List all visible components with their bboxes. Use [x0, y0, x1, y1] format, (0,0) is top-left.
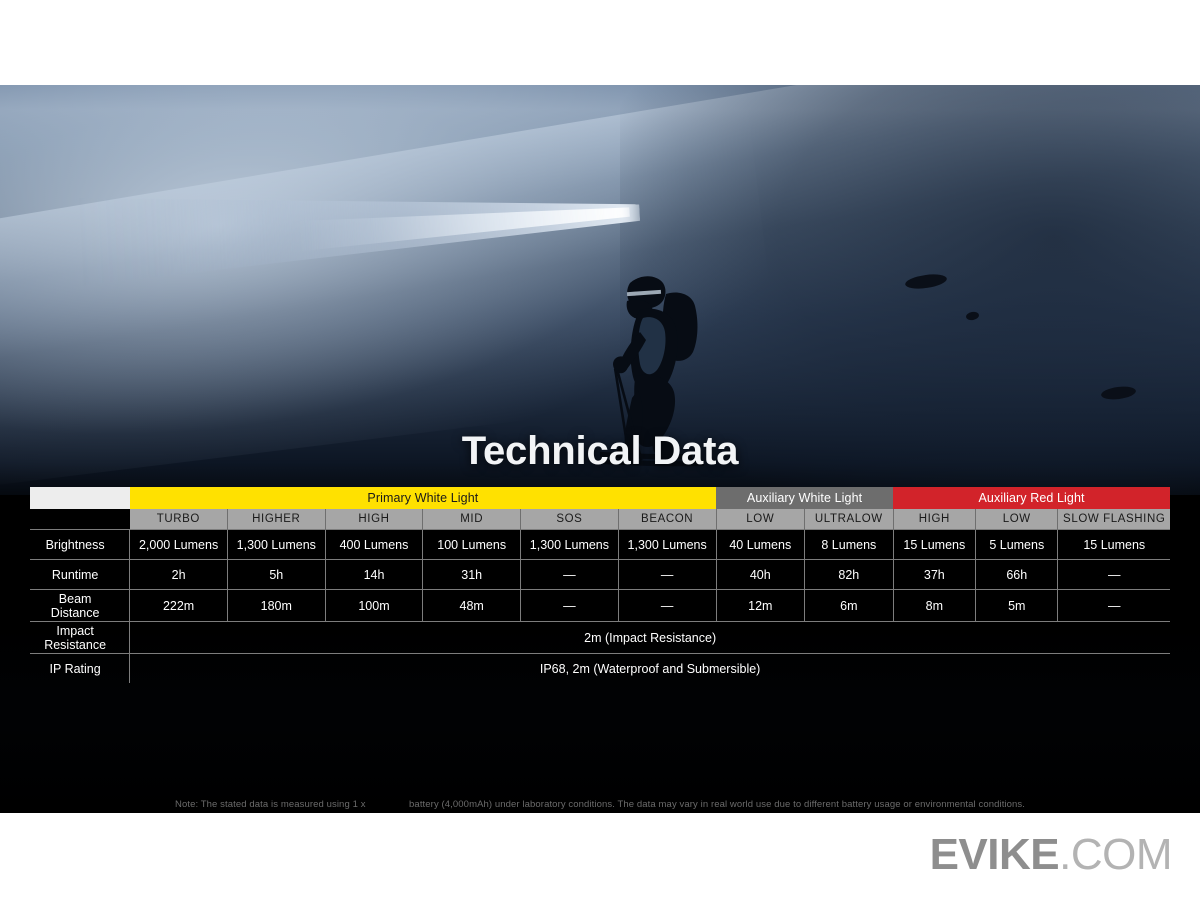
brightness-turbo: 2,000 Lumens: [130, 530, 228, 560]
beam-distance-aux-low: 12m: [716, 590, 805, 622]
row-label-brightness: Brightness: [30, 530, 130, 560]
row-label-ip-rating: IP Rating: [30, 654, 130, 684]
row-label-beam-distance-line2: Distance: [51, 606, 100, 620]
beam-distance-sos: —: [521, 590, 619, 622]
technical-data-table: Primary White Light Auxiliary White Ligh…: [30, 487, 1170, 683]
beam-distance-ultralow: 6m: [805, 590, 894, 622]
brightness-red-low: 5 Lumens: [976, 530, 1058, 560]
row-label-beam-distance: Beam Distance: [30, 590, 130, 622]
brightness-slow-flashing: 15 Lumens: [1058, 530, 1170, 560]
runtime-red-low: 66h: [976, 560, 1058, 590]
runtime-ultralow: 82h: [805, 560, 894, 590]
group-header-primary-white-light: Primary White Light: [130, 487, 716, 509]
group-header-blank: [30, 487, 130, 509]
beam-distance-slow-flashing: —: [1058, 590, 1170, 622]
table-row: IP Rating IP68, 2m (Waterproof and Subme…: [30, 654, 1170, 684]
runtime-high: 14h: [325, 560, 423, 590]
evike-logo-tld: .COM: [1059, 830, 1172, 879]
beam-distance-beacon: —: [618, 590, 716, 622]
row-label-impact-resistance-line2: Resistance: [44, 638, 106, 652]
mode-header-ultralow: ULTRALOW: [805, 509, 894, 530]
mode-header-blank: [30, 509, 130, 530]
evike-logo[interactable]: EVIKE.COM: [930, 831, 1172, 879]
runtime-sos: —: [521, 560, 619, 590]
brightness-ultralow: 8 Lumens: [805, 530, 894, 560]
mode-header-sos: SOS: [521, 509, 619, 530]
runtime-red-high: 37h: [893, 560, 975, 590]
runtime-beacon: —: [618, 560, 716, 590]
technical-data-table-wrapper: Primary White Light Auxiliary White Ligh…: [30, 487, 1170, 683]
row-label-beam-distance-line1: Beam: [59, 592, 92, 606]
runtime-mid: 31h: [423, 560, 521, 590]
group-header-auxiliary-red-light: Auxiliary Red Light: [893, 487, 1170, 509]
brightness-higher: 1,300 Lumens: [227, 530, 325, 560]
beam-distance-red-low: 5m: [976, 590, 1058, 622]
mode-header-slow-flashing: SLOW FLASHING: [1058, 509, 1170, 530]
footer-bar: EVIKE.COM: [0, 813, 1200, 900]
table-mode-header-row: TURBO HIGHER HIGH MID SOS BEACON LOW ULT…: [30, 509, 1170, 530]
row-label-impact-resistance-line1: Impact: [56, 624, 94, 638]
brightness-beacon: 1,300 Lumens: [618, 530, 716, 560]
brightness-high: 400 Lumens: [325, 530, 423, 560]
brightness-mid: 100 Lumens: [423, 530, 521, 560]
footnote-line-1-part-a: Note: The stated data is measured using …: [175, 799, 366, 810]
table-footnote: Note: The stated data is measured using …: [0, 797, 1200, 813]
row-label-runtime: Runtime: [30, 560, 130, 590]
mode-header-turbo: TURBO: [130, 509, 228, 530]
brightness-sos: 1,300 Lumens: [521, 530, 619, 560]
hero-banner: Technical Data Primary White Light Auxil…: [0, 85, 1200, 813]
runtime-turbo: 2h: [130, 560, 228, 590]
runtime-slow-flashing: —: [1058, 560, 1170, 590]
group-header-auxiliary-white-light: Auxiliary White Light: [716, 487, 893, 509]
beam-distance-high: 100m: [325, 590, 423, 622]
mode-header-red-low: LOW: [976, 509, 1058, 530]
mode-header-mid: MID: [423, 509, 521, 530]
runtime-higher: 5h: [227, 560, 325, 590]
table-row: Brightness 2,000 Lumens 1,300 Lumens 400…: [30, 530, 1170, 560]
table-row: Beam Distance 222m 180m 100m 48m — — 12m…: [30, 590, 1170, 622]
beam-distance-higher: 180m: [227, 590, 325, 622]
footnote-line-1-part-b: battery (4,000mAh) under laboratory cond…: [409, 799, 1025, 810]
beam-distance-mid: 48m: [423, 590, 521, 622]
mode-header-aux-low: LOW: [716, 509, 805, 530]
mode-header-beacon: BEACON: [618, 509, 716, 530]
brightness-aux-low: 40 Lumens: [716, 530, 805, 560]
table-group-header-row: Primary White Light Auxiliary White Ligh…: [30, 487, 1170, 509]
table-row: Runtime 2h 5h 14h 31h — — 40h 82h 37h 66…: [30, 560, 1170, 590]
brightness-red-high: 15 Lumens: [893, 530, 975, 560]
beam-distance-turbo: 222m: [130, 590, 228, 622]
mode-header-higher: HIGHER: [227, 509, 325, 530]
page-title: Technical Data: [0, 429, 1200, 474]
ip-rating-value: IP68, 2m (Waterproof and Submersible): [130, 654, 1170, 684]
impact-resistance-value: 2m (Impact Resistance): [130, 622, 1170, 654]
row-label-impact-resistance: Impact Resistance: [30, 622, 130, 654]
evike-logo-mark: EVIKE: [930, 830, 1060, 879]
table-row: Impact Resistance 2m (Impact Resistance): [30, 622, 1170, 654]
mode-header-high: HIGH: [325, 509, 423, 530]
runtime-aux-low: 40h: [716, 560, 805, 590]
beam-distance-red-high: 8m: [893, 590, 975, 622]
mode-header-red-high: HIGH: [893, 509, 975, 530]
footnote-line-1: Note: The stated data is measured using …: [0, 797, 1200, 813]
